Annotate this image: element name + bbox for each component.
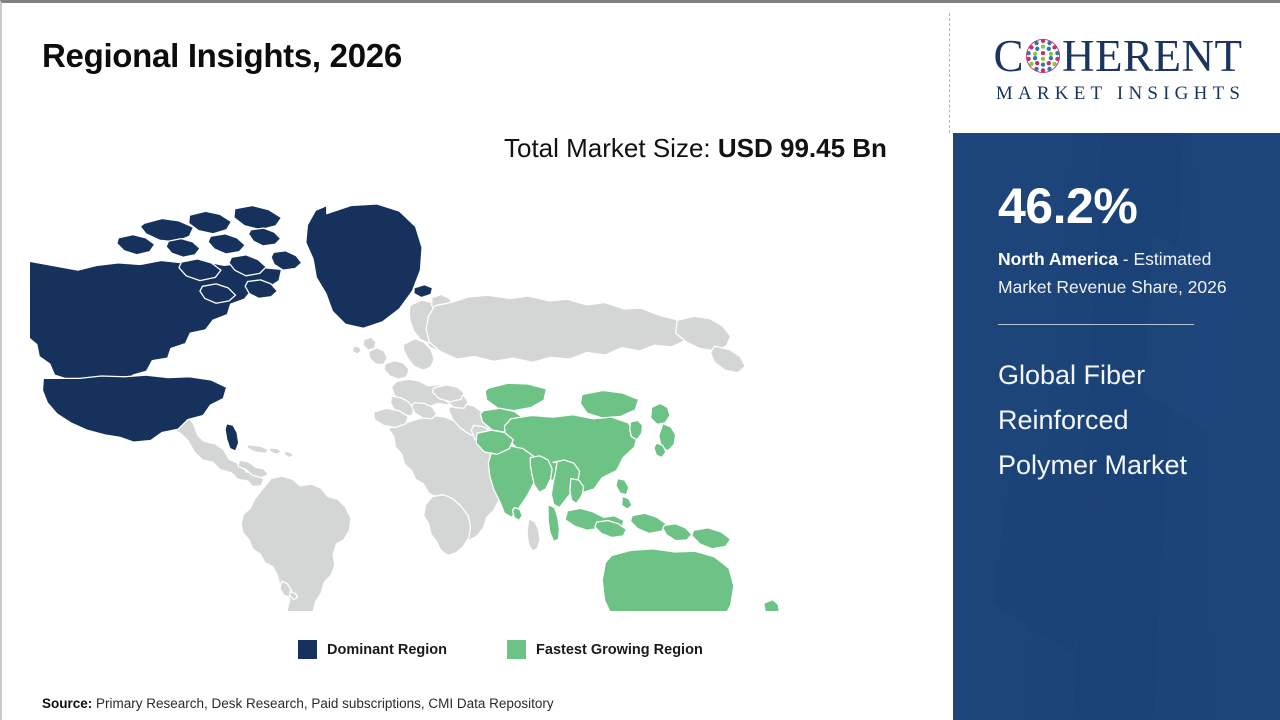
- source-label: Source:: [42, 696, 92, 711]
- world-map-svg: [30, 191, 840, 611]
- square-swatch-icon: [507, 640, 526, 659]
- vertical-dashed-divider: [949, 13, 950, 133]
- square-swatch-icon: [298, 640, 317, 659]
- stats-panel: 46.2% North America - Estimated Market R…: [953, 133, 1280, 720]
- share-caption: North America - Estimated Market Revenue…: [998, 245, 1263, 302]
- regional-insights-infographic: Regional Insights, 2026 Total Market Siz…: [2, 3, 1280, 720]
- share-percent: 46.2%: [998, 181, 1254, 231]
- panel-divider-rule: [998, 324, 1194, 326]
- map-region-north-america: [30, 204, 433, 451]
- source-text: Primary Research, Desk Research, Paid su…: [92, 696, 553, 711]
- legend-item-dominant: Dominant Region: [298, 640, 447, 659]
- page-title: Regional Insights, 2026: [42, 37, 402, 75]
- company-logo: C: [962, 21, 1274, 117]
- legend-label-dominant: Dominant Region: [327, 642, 447, 658]
- map-legend: Dominant Region Fastest Growing Region: [298, 640, 703, 659]
- world-map: [30, 191, 840, 611]
- logo-tagline: MARKET INSIGHTS: [991, 83, 1245, 105]
- source-note: Source: Primary Research, Desk Research,…: [42, 696, 554, 711]
- logo-word-rest: HERENT: [1062, 34, 1242, 79]
- legend-item-fastest: Fastest Growing Region: [507, 640, 703, 659]
- market-name: Global Fiber Reinforced Polymer Market: [998, 353, 1228, 487]
- total-market-size: Total Market Size: USD 99.45 Bn: [504, 129, 914, 167]
- map-region-asia-pacific: [476, 383, 784, 611]
- market-size-label: Total Market Size:: [504, 133, 718, 163]
- share-region-name: North America: [998, 249, 1118, 269]
- market-size-value: USD 99.45 Bn: [718, 133, 887, 163]
- legend-label-fastest: Fastest Growing Region: [536, 642, 703, 658]
- logo-letter-c: C: [994, 34, 1025, 79]
- globe-sphere-icon: [1025, 38, 1061, 74]
- logo-wordmark: C: [994, 34, 1243, 79]
